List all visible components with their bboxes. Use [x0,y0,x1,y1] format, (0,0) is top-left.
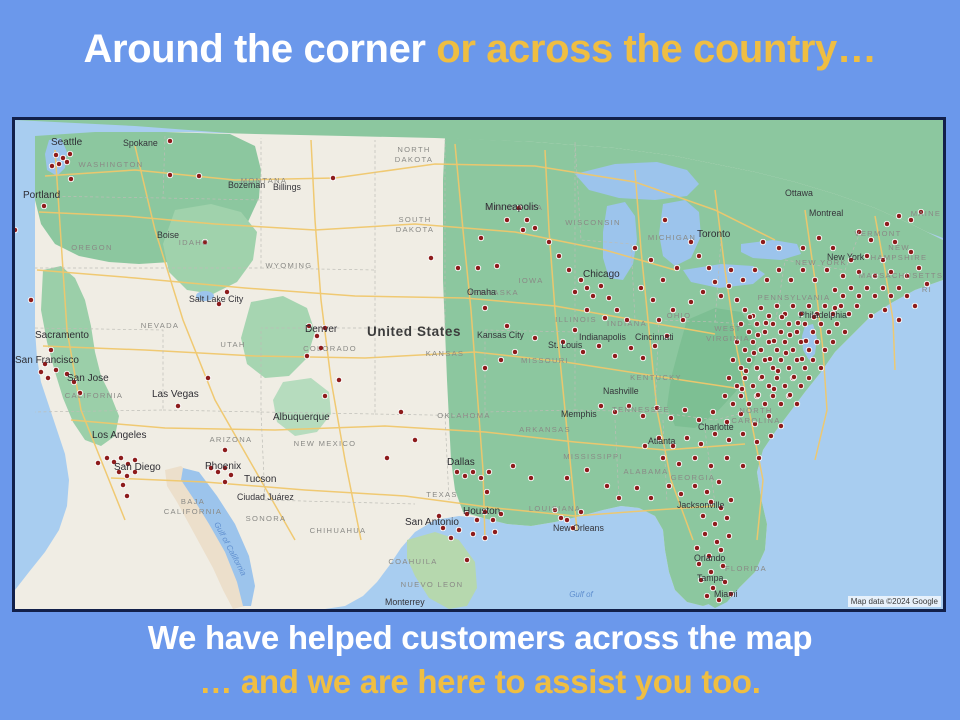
svg-text:LOUISIANA: LOUISIANA [529,504,581,513]
svg-text:COAHUILA: COAHUILA [388,557,437,566]
svg-text:ALABAMA: ALABAMA [624,467,669,476]
headline-white-part: Around the corner [83,27,436,71]
svg-text:Charlotte: Charlotte [698,422,734,432]
svg-text:New York: New York [827,252,865,262]
svg-text:Albuquerque: Albuquerque [273,412,330,423]
svg-text:MAINE: MAINE [911,209,942,218]
svg-text:CHIHUAHUA: CHIHUAHUA [310,526,367,535]
footer-text-block: We have helped customers across the map … [0,616,960,704]
svg-text:Sacramento: Sacramento [35,330,89,341]
svg-text:Gulf of: Gulf of [569,590,593,599]
svg-text:WYOMING: WYOMING [265,261,312,270]
svg-text:Omaha: Omaha [467,287,496,297]
svg-text:VERMONT: VERMONT [854,229,901,238]
svg-text:CAROLINA: CAROLINA [731,416,780,425]
svg-text:WASHINGTON: WASHINGTON [79,160,144,169]
svg-text:Portland: Portland [23,190,60,201]
svg-text:Memphis: Memphis [561,409,597,419]
svg-text:ILLINOIS: ILLINOIS [555,315,597,324]
svg-text:PENNSYLVANIA: PENNSYLVANIA [758,293,831,302]
svg-text:OREGON: OREGON [71,243,113,252]
svg-text:San Francisco: San Francisco [15,355,79,366]
svg-text:WISCONSIN: WISCONSIN [565,218,621,227]
page-title: Around the corner or across the country… [0,26,960,72]
svg-text:Chicago: Chicago [583,269,620,280]
svg-text:TEXAS: TEXAS [426,490,457,499]
svg-text:Spokane: Spokane [123,138,158,148]
svg-text:CALIFORNIA: CALIFORNIA [164,507,223,516]
svg-text:Nashville: Nashville [603,386,639,396]
svg-text:Denver: Denver [305,324,338,335]
svg-text:IOWA: IOWA [518,276,543,285]
svg-text:GEORGIA: GEORGIA [671,473,716,482]
svg-text:CALIFORNIA: CALIFORNIA [65,391,124,400]
svg-text:Indianapolis: Indianapolis [579,332,627,342]
customer-location-map[interactable]: United States WASHINGTON OREGON MONTANA … [12,117,946,612]
svg-text:Philadelphia: Philadelphia [799,310,847,320]
svg-text:New Orleans: New Orleans [553,523,604,533]
headline-gold-part: or across the country… [436,27,876,71]
svg-text:SONORA: SONORA [246,514,287,523]
svg-text:DAKOTA: DAKOTA [396,225,434,234]
svg-text:MICHIGAN: MICHIGAN [648,233,696,242]
svg-text:Cincinnati: Cincinnati [635,332,674,342]
svg-text:MISSISSIPPI: MISSISSIPPI [563,452,622,461]
svg-text:Dallas: Dallas [447,457,475,468]
svg-text:Salt Lake City: Salt Lake City [189,294,244,304]
svg-text:NORTH: NORTH [739,406,772,415]
svg-text:BAJA: BAJA [181,497,205,506]
svg-text:Kansas City: Kansas City [477,330,525,340]
svg-text:San Antonio: San Antonio [405,517,459,528]
svg-text:RI: RI [922,285,932,294]
svg-text:Minneapolis: Minneapolis [485,202,538,213]
svg-text:Atlanta: Atlanta [648,436,675,446]
svg-text:OHIO: OHIO [667,311,692,320]
svg-text:UTAH: UTAH [220,340,245,349]
svg-text:NEW MEXICO: NEW MEXICO [294,439,357,448]
svg-text:Los Angeles: Los Angeles [92,430,147,441]
svg-text:Jacksonville: Jacksonville [677,500,725,510]
svg-text:Tampa: Tampa [697,573,724,583]
slide-root: Around the corner or across the country… [0,0,960,720]
svg-text:SOUTH: SOUTH [398,215,431,224]
svg-text:St. Louis: St. Louis [548,340,583,350]
svg-text:MISSOURI: MISSOURI [521,356,569,365]
map-attribution: Map data ©2024 Google [848,596,941,607]
svg-text:VIRGINIA: VIRGINIA [706,334,750,343]
svg-text:Miami: Miami [714,589,738,599]
footer-line-1: We have helped customers across the map [0,616,960,660]
svg-text:Las Vegas: Las Vegas [152,389,199,400]
svg-text:Houston: Houston [463,506,500,517]
svg-text:Montreal: Montreal [809,208,843,218]
svg-text:MASSACHUSETTS: MASSACHUSETTS [859,271,943,280]
map-canvas[interactable]: United States WASHINGTON OREGON MONTANA … [15,120,943,609]
svg-text:DAKOTA: DAKOTA [395,155,433,164]
svg-text:TENNESSEE: TENNESSEE [612,405,670,414]
svg-text:INDIANA: INDIANA [607,319,647,328]
svg-text:NEVADA: NEVADA [141,321,179,330]
svg-text:NORTH: NORTH [397,145,430,154]
svg-text:Tucson: Tucson [244,474,276,485]
svg-text:KANSAS: KANSAS [426,349,465,358]
svg-text:Ciudad Juárez: Ciudad Juárez [237,492,294,502]
footer-line-2: … and we are here to assist you too. [0,660,960,704]
svg-text:San Jose: San Jose [67,373,109,384]
svg-text:Phoenix: Phoenix [205,461,241,472]
svg-text:Bozeman: Bozeman [228,180,265,190]
svg-text:FLORIDA: FLORIDA [725,564,767,573]
svg-text:ARKANSAS: ARKANSAS [519,425,571,434]
svg-text:NUEVO LEON: NUEVO LEON [401,580,464,589]
svg-text:Ottawa: Ottawa [785,188,813,198]
country-label: United States [367,324,461,339]
svg-text:Boise: Boise [157,230,179,240]
svg-text:NEW: NEW [888,243,910,252]
svg-text:Orlando: Orlando [694,553,725,563]
svg-text:ARIZONA: ARIZONA [210,435,253,444]
svg-text:Toronto: Toronto [697,229,731,240]
svg-text:COLORADO: COLORADO [303,344,357,353]
svg-text:OKLAHOMA: OKLAHOMA [437,411,490,420]
svg-text:IDAHO: IDAHO [179,238,210,247]
svg-text:Billings: Billings [273,182,301,192]
svg-text:Seattle: Seattle [51,137,83,148]
svg-text:HAMPSHIRE: HAMPSHIRE [871,253,928,262]
svg-text:San Diego: San Diego [114,462,161,473]
svg-text:KENTUCKY: KENTUCKY [630,373,682,382]
svg-text:WEST: WEST [714,324,741,333]
svg-text:Monterrey: Monterrey [385,597,425,607]
